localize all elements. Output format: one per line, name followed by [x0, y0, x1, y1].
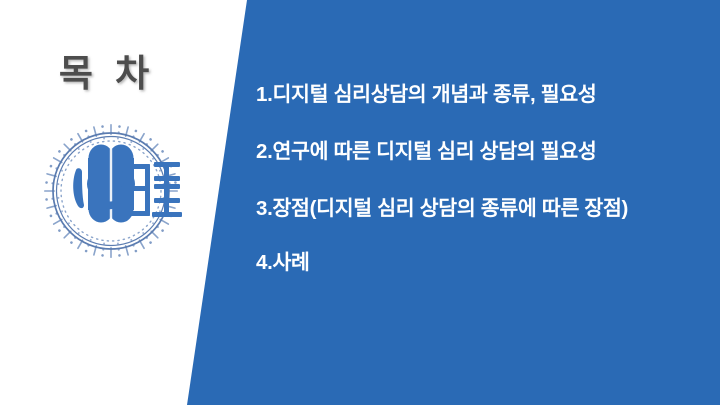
toc-item-4: 4.사례	[256, 250, 688, 276]
toc-item-2: 2.연구에 따른 디지털 심리 상담의 필요성	[256, 139, 688, 165]
psychology-seal-logo	[32, 112, 190, 270]
toc-item-1: 1.디지털 심리상담의 개념과 종류, 필요성	[256, 82, 688, 108]
slide-canvas: 목 차	[0, 0, 720, 405]
toc-item-3: 3.장점(디지털 심리 상담의 종류에 따른 장점)	[256, 196, 688, 222]
page-title: 목 차	[0, 52, 214, 96]
toc-list: 1.디지털 심리상담의 개념과 종류, 필요성 2.연구에 따른 디지털 심리 …	[256, 82, 688, 276]
